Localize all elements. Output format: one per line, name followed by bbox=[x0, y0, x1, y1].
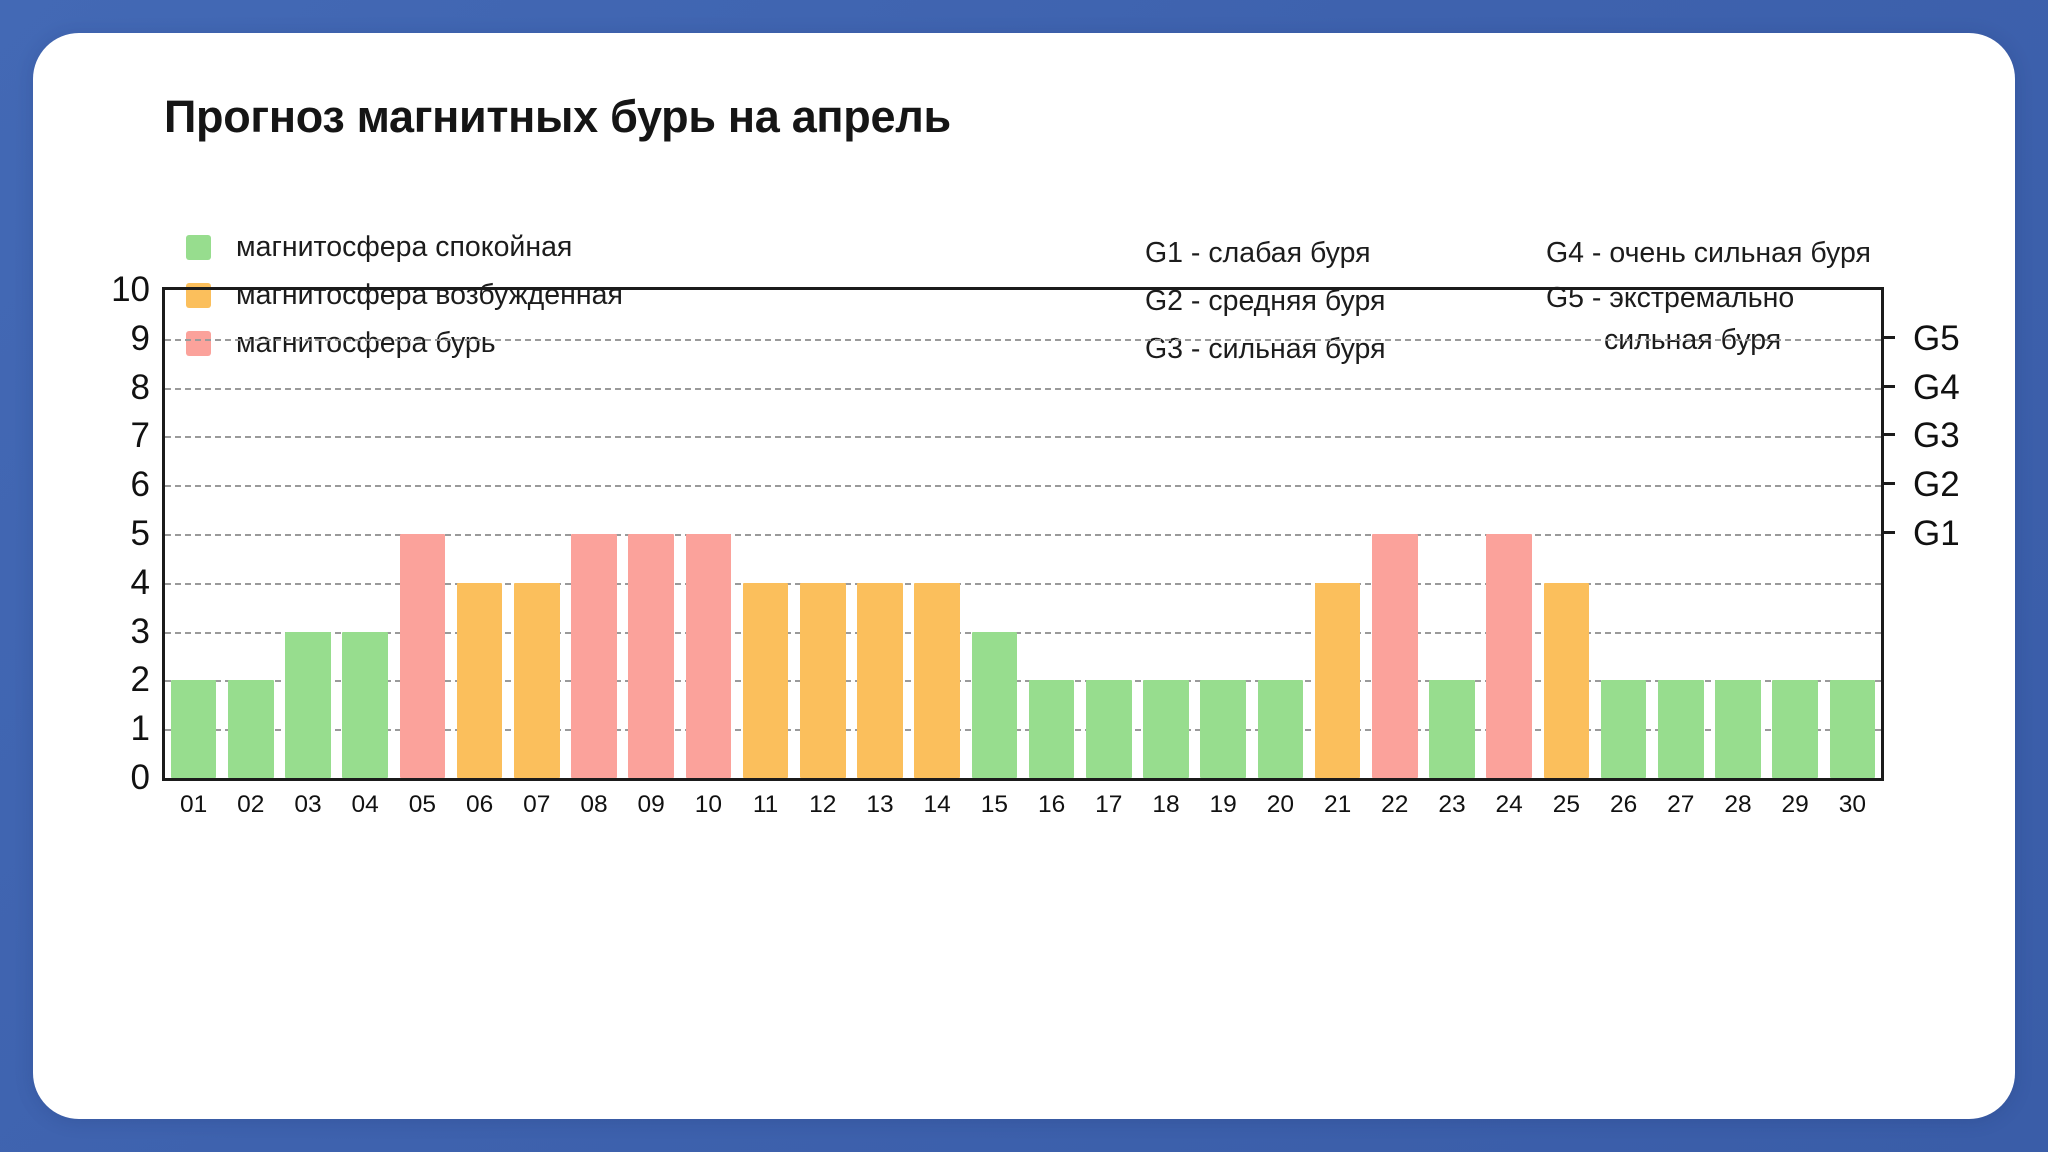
x-axis-tick-label: 09 bbox=[638, 791, 665, 819]
bar bbox=[1086, 680, 1132, 778]
right-axis-label-g2: G2 bbox=[1913, 465, 1960, 505]
y-axis-tick-label: 8 bbox=[88, 368, 150, 408]
x-axis-tick-label: 21 bbox=[1324, 791, 1351, 819]
y-axis-tick-label: 6 bbox=[88, 465, 150, 505]
bar bbox=[972, 632, 1018, 778]
y-axis-tick-label: 10 bbox=[88, 270, 150, 310]
x-axis-tick-label: 08 bbox=[580, 791, 607, 819]
right-axis-tick bbox=[1883, 433, 1895, 436]
bar bbox=[743, 583, 789, 778]
x-axis-tick-label: 22 bbox=[1381, 791, 1408, 819]
y-axis-tick-label: 0 bbox=[88, 758, 150, 798]
bar bbox=[686, 534, 732, 778]
bar bbox=[914, 583, 960, 778]
bar bbox=[857, 583, 903, 778]
bar bbox=[400, 534, 446, 778]
right-axis-label-g1: G1 bbox=[1913, 514, 1960, 554]
right-axis-tick bbox=[1883, 531, 1895, 534]
x-axis-tick-label: 18 bbox=[1152, 791, 1179, 819]
x-axis-tick-label: 10 bbox=[695, 791, 722, 819]
bar bbox=[1200, 680, 1246, 778]
bar bbox=[1486, 534, 1532, 778]
x-axis-tick-label: 15 bbox=[981, 791, 1008, 819]
x-axis-tick-label: 26 bbox=[1610, 791, 1637, 819]
x-axis-tick-label: 27 bbox=[1667, 791, 1694, 819]
bar bbox=[571, 534, 617, 778]
bar bbox=[1830, 680, 1876, 778]
bar bbox=[1029, 680, 1075, 778]
x-axis-tick-label: 14 bbox=[924, 791, 951, 819]
bar bbox=[800, 583, 846, 778]
x-axis-tick-label: 19 bbox=[1210, 791, 1237, 819]
x-axis-tick-label: 20 bbox=[1267, 791, 1294, 819]
bar bbox=[1315, 583, 1361, 778]
x-axis-tick-label: 30 bbox=[1839, 791, 1866, 819]
bar bbox=[1143, 680, 1189, 778]
bar bbox=[1715, 680, 1761, 778]
bar bbox=[514, 583, 560, 778]
bar bbox=[342, 632, 388, 778]
x-axis-tick-label: 13 bbox=[866, 791, 893, 819]
bar bbox=[1429, 680, 1475, 778]
chart-card: Прогноз магнитных бурь на апрель магнито… bbox=[33, 33, 2015, 1119]
bar bbox=[1544, 583, 1590, 778]
y-axis-tick-label: 7 bbox=[88, 416, 150, 456]
right-axis-label-g3: G3 bbox=[1913, 416, 1960, 456]
x-axis-tick-label: 17 bbox=[1095, 791, 1122, 819]
right-axis-label-g5: G5 bbox=[1913, 319, 1960, 359]
x-axis-tick-label: 24 bbox=[1496, 791, 1523, 819]
bar bbox=[1258, 680, 1304, 778]
bar bbox=[285, 632, 331, 778]
x-axis-tick-label: 06 bbox=[466, 791, 493, 819]
x-axis-tick-label: 29 bbox=[1782, 791, 1809, 819]
bar bbox=[1658, 680, 1704, 778]
bar bbox=[628, 534, 674, 778]
x-axis-tick-label: 02 bbox=[237, 791, 264, 819]
x-axis-tick-label: 23 bbox=[1438, 791, 1465, 819]
plot-area: 012345678910 G5G4G3G2G1 0102030405060708… bbox=[33, 33, 2015, 1119]
x-axis-tick-label: 12 bbox=[809, 791, 836, 819]
bar bbox=[171, 680, 217, 778]
y-axis-tick-label: 2 bbox=[88, 660, 150, 700]
right-axis-labels: G5G4G3G2G1 bbox=[1895, 287, 2015, 781]
bar bbox=[1772, 680, 1818, 778]
screenshot-root: Прогноз магнитных бурь на апрель магнито… bbox=[0, 0, 2048, 1152]
bar bbox=[1601, 680, 1647, 778]
bar-series bbox=[165, 290, 1881, 778]
x-axis-tick-label: 28 bbox=[1724, 791, 1751, 819]
x-axis-tick-label: 05 bbox=[409, 791, 436, 819]
right-axis-tick bbox=[1883, 336, 1895, 339]
x-axis-tick-label: 25 bbox=[1553, 791, 1580, 819]
y-axis-tick-label: 1 bbox=[88, 709, 150, 749]
y-axis-tick-label: 9 bbox=[88, 319, 150, 359]
y-axis-tick-label: 4 bbox=[88, 563, 150, 603]
x-axis-tick-label: 01 bbox=[180, 791, 207, 819]
x-axis-tick-label: 11 bbox=[753, 791, 778, 819]
bar bbox=[1372, 534, 1418, 778]
bar bbox=[228, 680, 274, 778]
x-axis-tick-label: 04 bbox=[352, 791, 379, 819]
y-axis-tick-label: 5 bbox=[88, 514, 150, 554]
x-axis-labels: 0102030405060708091011121314151617181920… bbox=[165, 791, 1881, 831]
bar bbox=[457, 583, 503, 778]
right-axis-tick bbox=[1883, 385, 1895, 388]
right-axis-label-g4: G4 bbox=[1913, 368, 1960, 408]
y-axis-tick-label: 3 bbox=[88, 612, 150, 652]
x-axis-tick-label: 03 bbox=[294, 791, 321, 819]
right-axis-tick bbox=[1883, 482, 1895, 485]
x-axis-tick-label: 16 bbox=[1038, 791, 1065, 819]
y-axis-labels: 012345678910 bbox=[88, 287, 150, 781]
x-axis-tick-label: 07 bbox=[523, 791, 550, 819]
